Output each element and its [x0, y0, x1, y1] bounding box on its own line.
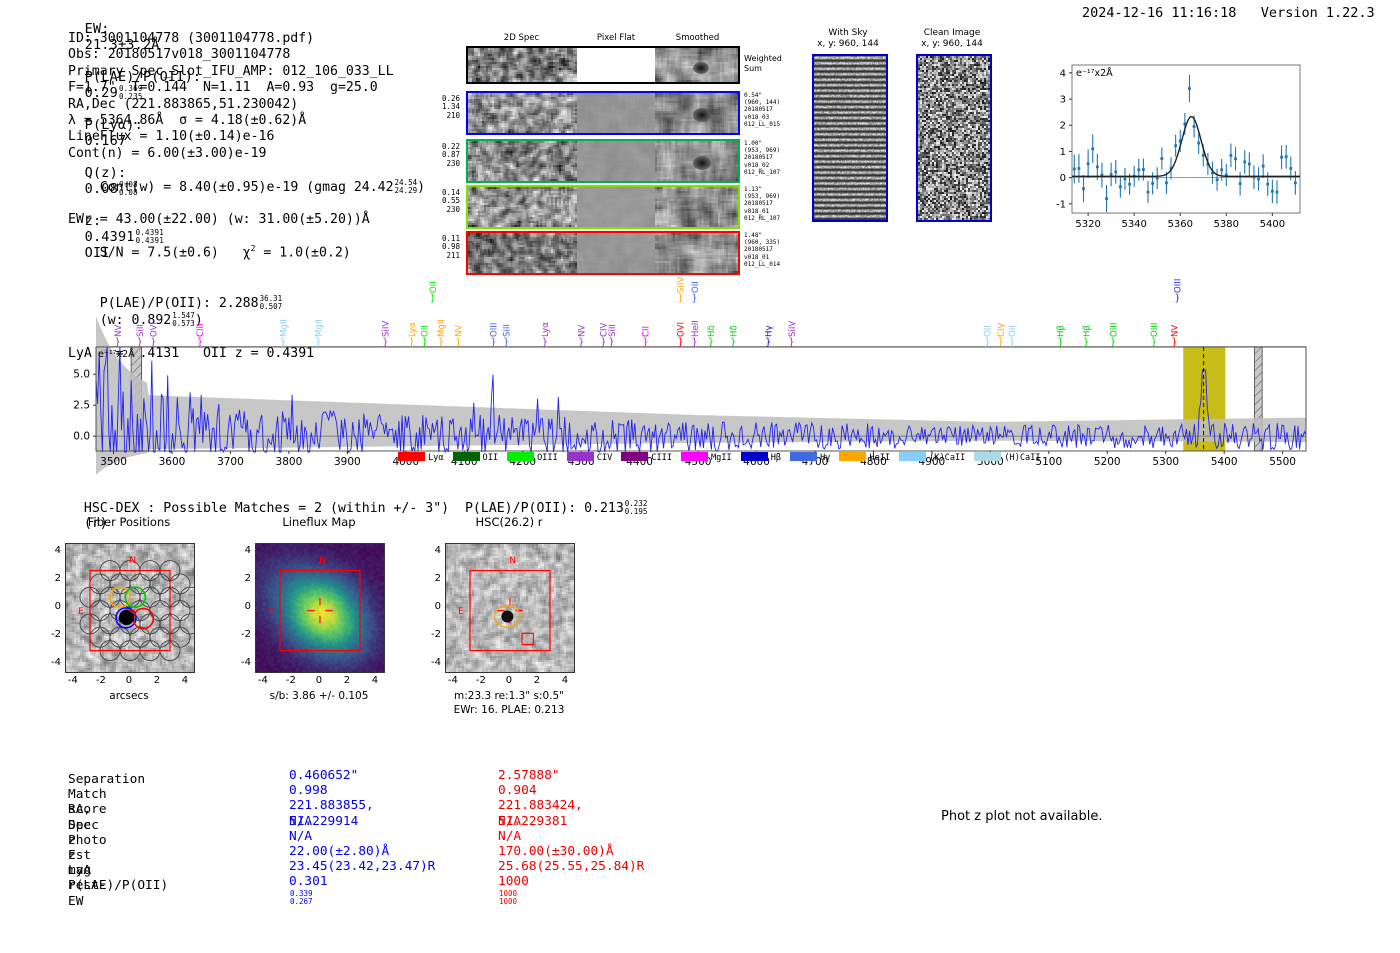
cutout-panel-0-xtick-0: -4 — [61, 675, 85, 686]
match-row-value1-0: 0.460652" — [289, 768, 358, 783]
info-line-6: LineFlux = 1.10(±0.14)e-16 — [68, 129, 425, 145]
match-row-value1-7: 0.3010.3390.267 — [289, 874, 328, 905]
line-label-CIV: CIV — [997, 322, 1007, 337]
line-brace-1: } — [137, 337, 143, 348]
line-fit-svg: -10123453205340536053805400e⁻¹⁷x2Å — [1038, 57, 1306, 237]
line-brace-21: } — [691, 293, 697, 304]
spec2d-row-2-pixelflat — [577, 187, 655, 227]
legend-swatch-MgII — [681, 452, 708, 461]
spec2d-row-1-blob — [693, 156, 711, 170]
svg-text:5300: 5300 — [1152, 456, 1179, 468]
line-label-OIII: OIII — [490, 323, 500, 337]
cutout-panel-0-title: Fiber Positions — [25, 515, 233, 529]
spec2d-row-0-2dspec — [468, 93, 577, 133]
line-label-SiIV: SiIV — [677, 277, 687, 293]
cutout-panel-2-ytick-4: -4 — [421, 657, 441, 668]
spec2d-row-3-meta: 1.48"(960, 335)20180517v018_01012_LL_014 — [744, 232, 792, 268]
spec2d-row-3-left-values: 0.110.98211 — [430, 235, 460, 260]
cutout-panel-1-overlay: NE — [256, 544, 384, 672]
svg-text:3900: 3900 — [334, 456, 361, 468]
match-row-value1-5: 22.00(±2.80)Å — [289, 844, 389, 859]
timestamp-version: 2024-12-16 11:16:18 Version 1.22.3 — [1082, 5, 1375, 21]
legend-label-CIV: CIV — [597, 453, 613, 463]
line-label-HeII: HeII — [691, 320, 701, 337]
svg-text:5400: 5400 — [1260, 219, 1285, 230]
line-label-OII: OII — [984, 325, 994, 337]
line-label-Hδ: Hδ — [707, 325, 717, 337]
line-label-Hγ: Hγ — [764, 325, 774, 337]
legend-swatch-Hβ — [741, 452, 768, 461]
svg-text:2.5: 2.5 — [73, 400, 90, 412]
line-label-OIII: OIII — [1174, 279, 1184, 293]
spec2d-row-1 — [466, 139, 740, 183]
line-label-OIII: OIII — [1150, 323, 1160, 337]
line-brace-18: } — [642, 337, 648, 348]
svg-text:N: N — [129, 556, 136, 566]
line-brace-30: } — [1057, 337, 1063, 348]
legend-swatch-CIII — [621, 452, 648, 461]
line-label-NV: NV — [577, 325, 587, 337]
line-label-OII: OII — [691, 281, 701, 293]
full-spectrum-plot: 0.02.55.03500360037003800390040004100420… — [62, 265, 1310, 475]
cutout-panel-0-xtick-1: -2 — [89, 675, 113, 686]
cutout-panel-0-ytick-1: 2 — [41, 573, 61, 584]
match-row-value2-3: N/A — [498, 814, 521, 829]
line-brace-29: } — [1009, 337, 1015, 348]
match-row-value2-4: N/A — [498, 829, 521, 844]
line-label-OII: OII — [1008, 325, 1018, 337]
legend-label-(K)CaII: (K)CaII — [929, 453, 965, 463]
spec2d-row-1-left-values: 0.220.87230 — [430, 143, 460, 168]
cutout-panel-1-image: NE — [255, 543, 385, 673]
match-row-label-6: mag — [68, 863, 91, 878]
cutout-panel-0-xtick-3: 2 — [145, 675, 169, 686]
legend-label-CIII: CIII — [651, 453, 672, 463]
spec2d-row-1-2dspec — [468, 141, 577, 181]
svg-text:E: E — [268, 607, 274, 617]
legend-swatch-CIV — [567, 452, 594, 461]
line-brace-8: } — [421, 337, 427, 348]
legend-item-(H)CaII: (H)CaII — [974, 452, 1040, 463]
legend-item-Lyα: Lyα — [398, 452, 444, 463]
sky-panel-1-image — [916, 54, 992, 222]
legend-item-Hβ: Hβ — [741, 452, 781, 463]
sky-panel-1-coords: x, y: 960, 144 — [902, 39, 1002, 49]
svg-text:5200: 5200 — [1094, 456, 1121, 468]
legend-label-OIII: OIII — [537, 453, 558, 463]
legend-item-HeII: HeII — [839, 452, 890, 463]
svg-text:3500: 3500 — [100, 456, 127, 468]
cont-w-line: Cont(w) = 8.40(±0.95)e-19 (gmag 24.4224.… — [68, 162, 425, 212]
cutout-panel-1-title: Lineflux Map — [215, 515, 423, 529]
line-label-SiIV: SiIV — [788, 321, 798, 337]
match-row-value1-1: 0.998 — [289, 783, 328, 798]
svg-text:E: E — [458, 607, 464, 617]
match-row-value2-errors-7: 10001000 — [499, 890, 517, 906]
spec2d-row-1-pixelflat — [577, 141, 655, 181]
cutout-panel-2-ytick-3: -2 — [421, 629, 441, 640]
line-brace-34: } — [1171, 337, 1177, 348]
line-brace-7: } — [408, 337, 414, 348]
line-label-SiII: SiII — [503, 324, 513, 337]
svg-text:5340: 5340 — [1121, 219, 1146, 230]
spec2d-column-title-0: 2D Spec — [495, 33, 547, 43]
spec2d-row-0-left-values: 0.261.34210 — [430, 95, 460, 120]
sky-panel-0-coords: x, y: 960, 144 — [798, 39, 898, 49]
line-brace-11: } — [455, 337, 461, 348]
legend-swatch-Lyα — [398, 452, 425, 461]
match-row-value2-7: 100010001000 — [498, 874, 529, 905]
svg-text:5400: 5400 — [1211, 456, 1238, 468]
cutout-panel-2-xtick-4: 4 — [553, 675, 577, 686]
line-label-OIII: OIII — [1109, 323, 1119, 337]
svg-text:0: 0 — [1060, 173, 1066, 184]
line-brace-6: } — [382, 337, 388, 348]
cutout-panel-0-ytick-3: -2 — [41, 629, 61, 640]
line-label-MgII: MgII — [279, 319, 289, 337]
line-label-OVI: OVI — [677, 322, 687, 337]
cutout-panel-2-xtick-0: -4 — [441, 675, 465, 686]
legend-swatch-(K)CaII — [899, 452, 926, 461]
legend-item-OIII: OIII — [507, 452, 558, 463]
cutout-panel-1-xtick-1: -2 — [279, 675, 303, 686]
cutout-panel-1-ytick-2: 0 — [231, 601, 251, 612]
svg-text:3600: 3600 — [159, 456, 186, 468]
line-label-Hδ: Hδ — [729, 325, 739, 337]
legend-item-Hγ: Hγ — [790, 452, 830, 463]
line-brace-16: } — [600, 337, 606, 348]
spec2d-row-0-blob — [693, 108, 711, 122]
line-brace-14: } — [542, 337, 548, 348]
legend-swatch-(H)CaII — [974, 452, 1001, 461]
line-brace-12: } — [490, 337, 496, 348]
line-label-Hβ: Hβ — [1082, 325, 1092, 337]
line-brace-31: } — [1083, 337, 1089, 348]
legend-label-MgII: MgII — [711, 453, 732, 463]
svg-text:-1: -1 — [1056, 199, 1066, 210]
cutout-panel-2-overlay: NE — [446, 544, 574, 672]
svg-text:2: 2 — [1060, 121, 1066, 132]
spec2d-row-2-2dspec — [468, 187, 577, 227]
line-brace-4: } — [280, 337, 286, 348]
line-label-SiII: SiII — [136, 324, 146, 337]
cutout-panel-2-title: HSC(26.2) r — [405, 515, 613, 529]
info-line-3: F=1.7" T=0.144 N=1.11 A=0.93 g=25.0 — [68, 80, 425, 96]
legend-label-Hβ: Hβ — [771, 453, 781, 463]
match-row-value1-4: N/A — [289, 829, 312, 844]
svg-text:3: 3 — [1060, 95, 1066, 106]
legend-label-HeII: HeII — [869, 453, 890, 463]
match-row-value2-6: 25.68(25.55,25.84)R — [498, 859, 644, 874]
legend-item-(K)CaII: (K)CaII — [899, 452, 965, 463]
match-row-value1-6: 23.45(23.42,23.47)R — [289, 859, 435, 874]
legend-swatch-OII — [453, 452, 480, 461]
legend-item-CIII: CIII — [621, 452, 672, 463]
legend-label-Lyα: Lyα — [428, 453, 444, 463]
spec2d-row-0-meta: 0.54"(960, 144)20180517v018_03012_LL_015 — [744, 92, 792, 128]
legend-label-Hγ: Hγ — [820, 453, 830, 463]
cutout-panel-1-ytick-0: 4 — [231, 545, 251, 556]
line-label-CII: CII — [642, 326, 652, 337]
line-label-OVI: OVI — [149, 322, 159, 337]
line-brace-28: } — [998, 337, 1004, 348]
line-label-OII: OII — [421, 325, 431, 337]
sky-panel-1-title: Clean Image — [902, 28, 1002, 38]
info-line-0: ID: 3001104778 (3001104778.pdf) — [68, 31, 425, 47]
spec2d-row-2 — [466, 185, 740, 229]
line-brace-26: } — [788, 337, 794, 348]
line-brace-24: } — [730, 337, 736, 348]
spec2d-weighted-sum-label: WeightedSum — [744, 54, 782, 73]
cutout-panel-2-ytick-1: 2 — [421, 573, 441, 584]
line-brace-17: } — [608, 337, 614, 348]
line-label-Lyα: Lyα — [408, 322, 418, 337]
spec2d-column-title-2: Smoothed — [672, 33, 724, 43]
line-label-SiIV: SiIV — [382, 321, 392, 337]
legend-label-(H)CaII: (H)CaII — [1004, 453, 1040, 463]
svg-text:4: 4 — [1060, 68, 1066, 79]
line-label-OII: OII — [429, 281, 439, 293]
cutout-panel-0-xtick-4: 4 — [173, 675, 197, 686]
cutout-panel-0-image: NE — [65, 543, 195, 673]
cutout-panel-2-caption2: EWr: 16. PLAE: 0.213 — [400, 704, 618, 716]
line-brace-10: } — [438, 337, 444, 348]
cutout-panel-0-xlabel: arcsecs — [35, 690, 223, 702]
svg-text:E: E — [78, 607, 84, 617]
legend-swatch-HeII — [839, 452, 866, 461]
photoz-note: Phot z plot not available. — [941, 809, 1103, 824]
spec2d-summed-pixelflat — [577, 48, 655, 82]
legend-item-OII: OII — [453, 452, 499, 463]
cutout-panel-2-xtick-1: -2 — [469, 675, 493, 686]
legend-item-CIV: CIV — [567, 452, 613, 463]
svg-text:e⁻¹⁷x2Å: e⁻¹⁷x2Å — [98, 348, 135, 360]
spec2d-summed-2dspec — [468, 48, 577, 82]
line-brace-23: } — [708, 337, 714, 348]
line-label-NV: NV — [1171, 325, 1181, 337]
svg-text:3800: 3800 — [276, 456, 303, 468]
match-row-value1-3: N/A — [289, 814, 312, 829]
spec2d-column-title-1: Pixel Flat — [590, 33, 642, 43]
line-brace-35: } — [1174, 293, 1180, 304]
info-line-5: λ = 5364.86Å σ = 4.18(±0.62)Å — [68, 113, 425, 129]
line-brace-20: } — [677, 337, 683, 348]
svg-text:3700: 3700 — [217, 456, 244, 468]
svg-text:5500: 5500 — [1269, 456, 1296, 468]
svg-text:N: N — [319, 556, 326, 566]
spec2d-row-1-meta: 1.00"(953, 969)20180517v018_02012_RL_107 — [744, 140, 792, 176]
match-row-label-0: Separation — [68, 772, 145, 787]
line-brace-13: } — [503, 337, 509, 348]
line-brace-9: } — [430, 293, 436, 304]
full-spectrum-svg: 0.02.55.03500360037003800390040004100420… — [62, 265, 1310, 475]
info-line-1: Obs: 20180517v018_3001104778 — [68, 47, 425, 63]
sky-panel-0-image — [812, 54, 888, 222]
cutout-panel-0-ytick-0: 4 — [41, 545, 61, 556]
match-row-value2-5: 170.00(±30.00)Å — [498, 844, 614, 859]
cutout-panel-2-xtick-3: 2 — [525, 675, 549, 686]
cutout-panel-1-caption: s/b: 3.86 +/- 0.105 — [210, 690, 428, 702]
line-brace-25: } — [765, 337, 771, 348]
svg-text:0.0: 0.0 — [73, 431, 90, 443]
line-label-MgII: MgII — [437, 319, 447, 337]
info-line-2: Primary Spec_Slot_IFU_AMP: 012_106_033_L… — [68, 64, 425, 80]
cutout-panel-1-xtick-2: 0 — [307, 675, 331, 686]
svg-text:N: N — [509, 556, 516, 566]
line-brace-3: } — [197, 337, 203, 348]
cutout-panel-0-ytick-4: -4 — [41, 657, 61, 668]
line-fit-plot: -10123453205340536053805400e⁻¹⁷x2Å — [1038, 57, 1306, 237]
cutout-panel-1-xtick-3: 2 — [335, 675, 359, 686]
cutout-panel-1-ytick-4: -4 — [231, 657, 251, 668]
svg-text:5.0: 5.0 — [73, 369, 90, 381]
cutout-panel-group: Fiber PositionsNE420-2-4-4-2024arcsecsLi… — [40, 505, 660, 755]
line-label-CIII: CIII — [196, 323, 206, 337]
spec2d-row-2-smoothed — [655, 187, 738, 227]
line-brace-0: } — [114, 337, 120, 348]
cutout-panel-0-ytick-2: 0 — [41, 601, 61, 612]
spectrum-legend: LyαOIIOIIICIVCIIIMgIIHβHγHeII(K)CaII(H)C… — [398, 452, 1050, 463]
line-label-Lyα: Lyα — [541, 322, 551, 337]
line-brace-5: } — [315, 337, 321, 348]
info-line-4: RA,Dec (221.883865,51.230042) — [68, 97, 425, 113]
line-brace-2: } — [150, 337, 156, 348]
line-brace-15: } — [578, 337, 584, 348]
line-label-NV: NV — [114, 325, 124, 337]
line-label-NV: NV — [455, 325, 465, 337]
sky-image-group: With Skyx, y: 960, 144Clean Imagex, y: 9… — [812, 28, 1022, 258]
cutout-panel-1-xtick-0: -4 — [251, 675, 275, 686]
sky-panel-0-title: With Sky — [798, 28, 898, 38]
line-brace-27: } — [984, 337, 990, 348]
spec2d-row-2-meta: 1.13"(953, 969)20180517v018_01012_RL_107 — [744, 186, 792, 222]
cutout-panel-1-ytick-3: -2 — [231, 629, 251, 640]
clean-image-noise — [918, 56, 990, 220]
info-line-7: Cont(n) = 6.00(±3.00)e-19 — [68, 146, 425, 162]
svg-text:5360: 5360 — [1168, 219, 1193, 230]
cutout-panel-2-ytick-0: 4 — [421, 545, 441, 556]
cutout-panel-1-ytick-1: 2 — [231, 573, 251, 584]
legend-item-MgII: MgII — [681, 452, 732, 463]
spec2d-weighted-sum-strip — [466, 46, 740, 84]
cutout-panel-2-caption: m:23.3 re:1.3" s:0.5" — [400, 690, 618, 702]
spec2d-panel-group: 2D SpecPixel FlatSmoothedWeightedSum0.26… — [420, 33, 760, 253]
svg-text:5380: 5380 — [1214, 219, 1239, 230]
line-brace-32: } — [1110, 337, 1116, 348]
line-brace-19: } — [677, 293, 683, 304]
ewr-line: EWr = 43.00(±22.00) (w: 31.00(±5.20))Å — [68, 212, 425, 228]
line-label-SiII: SiII — [608, 324, 618, 337]
cutout-panel-0-xtick-2: 0 — [117, 675, 141, 686]
cutout-panel-2-ytick-2: 0 — [421, 601, 441, 612]
match-row-value2-0: 2.57888" — [498, 768, 560, 783]
cutout-panel-1-xtick-4: 4 — [363, 675, 387, 686]
line-brace-22: } — [691, 337, 697, 348]
cutout-panel-0-overlay: NE — [66, 544, 194, 672]
match-row-value1-errors-7: 0.3390.267 — [290, 890, 313, 906]
match-row-label-7: P(LAE)/P(OII) — [68, 878, 168, 893]
line-brace-33: } — [1151, 337, 1157, 348]
line-label-Hβ: Hβ — [1057, 325, 1067, 337]
legend-swatch-Hγ — [790, 452, 817, 461]
svg-text:e⁻¹⁷x2Å: e⁻¹⁷x2Å — [1076, 67, 1113, 79]
spec2d-row-0-pixelflat — [577, 93, 655, 133]
line-label-MgII: MgII — [314, 319, 324, 337]
spec2d-row-2-left-values: 0.140.55230 — [430, 189, 460, 214]
cutout-panel-2-xtick-2: 0 — [497, 675, 521, 686]
cutout-panel-2-image: NE — [445, 543, 575, 673]
legend-label-OII: OII — [483, 453, 499, 463]
spec2d-row-0 — [466, 91, 740, 135]
svg-text:5320: 5320 — [1075, 219, 1100, 230]
match-row-value2-1: 0.904 — [498, 783, 537, 798]
svg-text:1: 1 — [1060, 147, 1066, 158]
legend-swatch-OIII — [507, 452, 534, 461]
